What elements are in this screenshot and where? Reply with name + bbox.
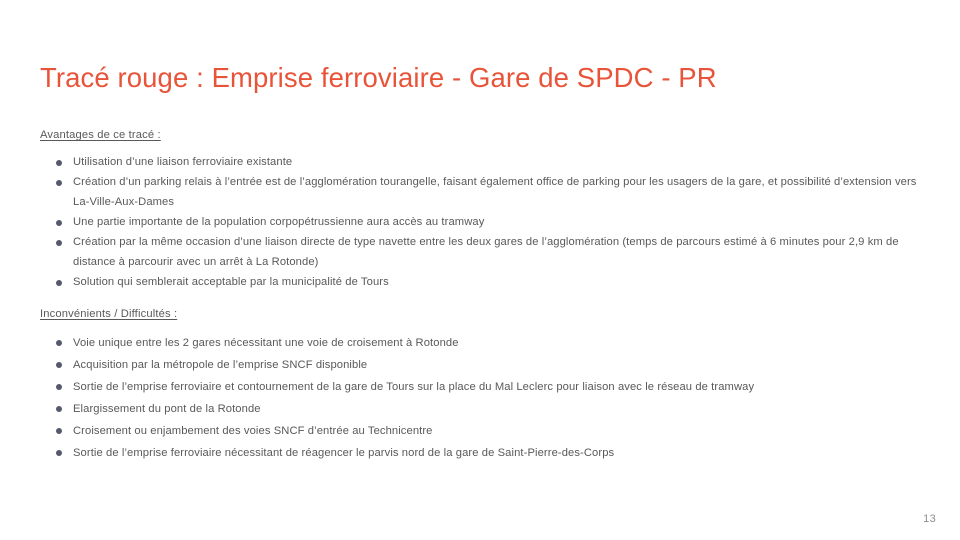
bullet-dot-icon <box>56 280 62 286</box>
list-item: Utilisation d’une liaison ferroviaire ex… <box>40 153 930 173</box>
bullet-list-inconvenients: Voie unique entre les 2 gares nécessitan… <box>40 333 930 464</box>
list-item: Sortie de l’emprise ferroviaire nécessit… <box>40 443 930 464</box>
bullet-dot-icon <box>56 384 62 390</box>
bullet-dot-icon <box>56 340 62 346</box>
bullet-dot-icon <box>56 362 62 368</box>
bullet-list-avantages: Utilisation d’une liaison ferroviaire ex… <box>40 153 930 293</box>
list-item-text: Solution qui semblerait acceptable par l… <box>73 276 389 288</box>
section-heading-avantages: Avantages de ce tracé : <box>40 128 930 143</box>
list-item-text: Création d’un parking relais à l’entrée … <box>73 176 917 208</box>
list-item: Croisement ou enjambement des voies SNCF… <box>40 421 930 442</box>
list-item: Sortie de l’emprise ferroviaire et conto… <box>40 377 930 398</box>
list-item-text: Une partie importante de la population c… <box>73 216 484 228</box>
list-item-text: Sortie de l’emprise ferroviaire et conto… <box>73 381 754 393</box>
section-heading-inconvenients: Inconvénients / Difficultés : <box>40 307 930 322</box>
list-item: Création d’un parking relais à l’entrée … <box>40 173 930 213</box>
slide-canvas: Tracé rouge : Emprise ferroviaire - Gare… <box>0 0 960 540</box>
section-avantages: Avantages de ce tracé : Utilisation d’un… <box>40 128 930 293</box>
list-item: Voie unique entre les 2 gares nécessitan… <box>40 333 930 354</box>
list-item-text: Croisement ou enjambement des voies SNCF… <box>73 425 433 437</box>
bullet-dot-icon <box>56 160 62 166</box>
list-item-text: Création par la même occasion d’une liai… <box>73 236 899 268</box>
list-item: Solution qui semblerait acceptable par l… <box>40 273 930 293</box>
bullet-dot-icon <box>56 406 62 412</box>
list-item-text: Sortie de l’emprise ferroviaire nécessit… <box>73 447 614 459</box>
list-item: Elargissement du pont de la Rotonde <box>40 399 930 420</box>
bullet-dot-icon <box>56 428 62 434</box>
list-item: Acquisition par la métropole de l’empris… <box>40 355 930 376</box>
bullet-dot-icon <box>56 180 62 186</box>
list-item-text: Utilisation d’une liaison ferroviaire ex… <box>73 156 292 168</box>
list-item-text: Acquisition par la métropole de l’empris… <box>73 359 367 371</box>
section-inconvenients: Inconvénients / Difficultés : Voie uniqu… <box>40 307 930 464</box>
bullet-dot-icon <box>56 240 62 246</box>
bullet-dot-icon <box>56 450 62 456</box>
list-item: Une partie importante de la population c… <box>40 213 930 233</box>
page-title: Tracé rouge : Emprise ferroviaire - Gare… <box>40 62 920 94</box>
list-item-text: Voie unique entre les 2 gares nécessitan… <box>73 337 459 349</box>
list-item: Création par la même occasion d’une liai… <box>40 233 930 273</box>
page-number: 13 <box>923 513 936 525</box>
list-item-text: Elargissement du pont de la Rotonde <box>73 403 261 415</box>
slide-body: Avantages de ce tracé : Utilisation d’un… <box>40 128 930 465</box>
bullet-dot-icon <box>56 220 62 226</box>
